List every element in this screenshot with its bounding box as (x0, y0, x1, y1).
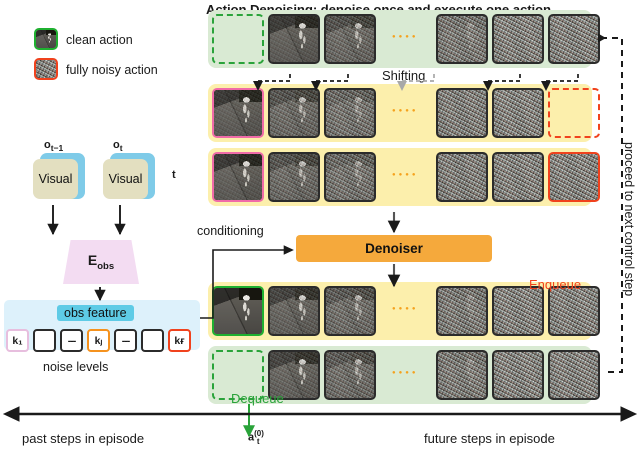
shifting-connectors (258, 74, 578, 90)
connector-overlay (0, 0, 640, 457)
arrow-conditioning (200, 250, 292, 318)
shifting-connectors-faded (402, 74, 434, 90)
proceed-loop (600, 38, 622, 372)
proceed-loop-arrowhead (598, 34, 606, 43)
